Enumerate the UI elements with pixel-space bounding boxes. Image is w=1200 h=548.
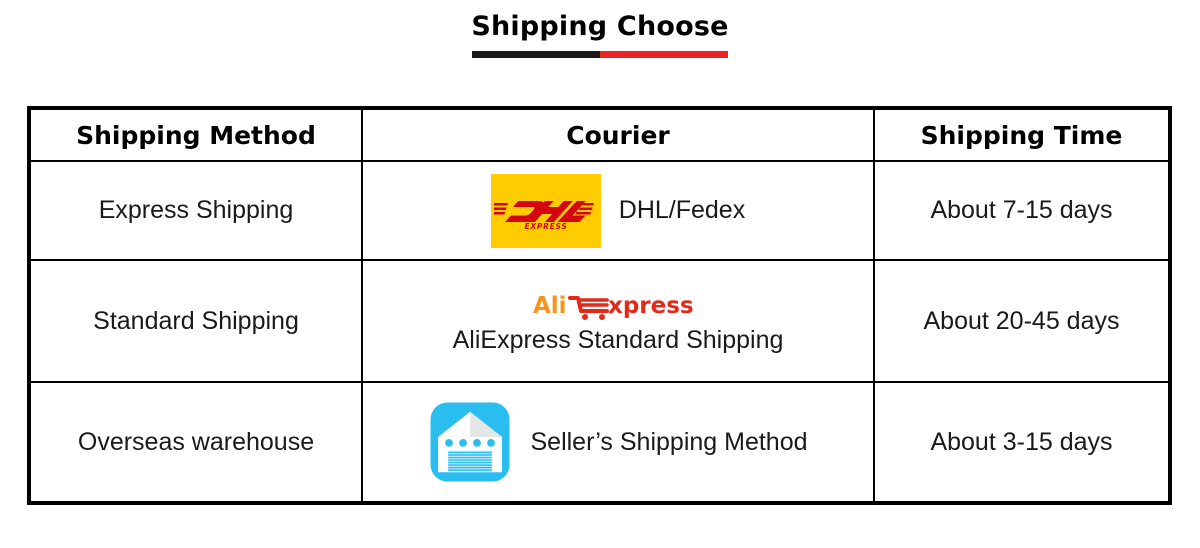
courier-content: Ali xpress AliExpress Standard Shipping bbox=[373, 288, 863, 355]
warehouse-icon bbox=[428, 400, 512, 484]
dhl-express-logo-mark: EXPRESS bbox=[494, 191, 598, 231]
cell-courier: EXPRESS DHL/Fedex bbox=[362, 161, 874, 260]
aliexpress-logo: Ali xpress bbox=[533, 288, 703, 324]
cell-shipping-time: About 20-45 days bbox=[874, 260, 1170, 382]
aliexpress-logo-text-xpress: xpress bbox=[608, 293, 694, 319]
courier-content: EXPRESS DHL/Fedex bbox=[373, 174, 863, 248]
dhl-express-subtext: EXPRESS bbox=[524, 222, 567, 231]
courier-content: Seller’s Shipping Method bbox=[373, 400, 863, 484]
title-underline-rule bbox=[472, 51, 728, 58]
courier-label: AliExpress Standard Shipping bbox=[453, 326, 784, 355]
column-header-shipping-method: Shipping Method bbox=[29, 108, 362, 161]
courier-label: DHL/Fedex bbox=[619, 196, 745, 225]
title-rule-accent-segment bbox=[600, 51, 728, 58]
table-row: Express Shipping bbox=[29, 161, 1170, 260]
aliexpress-logo-text-ali: Ali bbox=[533, 293, 567, 319]
dhl-express-logo: EXPRESS bbox=[491, 174, 601, 248]
cell-shipping-method: Overseas warehouse bbox=[29, 382, 362, 503]
cell-shipping-time: About 7-15 days bbox=[874, 161, 1170, 260]
cell-courier: Ali xpress AliExpress Standard Shipping bbox=[362, 260, 874, 382]
table-row: Standard Shipping Ali x bbox=[29, 260, 1170, 382]
column-header-shipping-time: Shipping Time bbox=[874, 108, 1170, 161]
table-header-row: Shipping Method Courier Shipping Time bbox=[29, 108, 1170, 161]
cell-shipping-time: About 3-15 days bbox=[874, 382, 1170, 503]
cell-shipping-method: Express Shipping bbox=[29, 161, 362, 260]
title-rule-dark-segment bbox=[472, 51, 600, 58]
warehouse-icon-door bbox=[449, 450, 493, 472]
cell-shipping-method: Standard Shipping bbox=[29, 260, 362, 382]
table-row: Overseas warehouse bbox=[29, 382, 1170, 503]
cell-courier: Seller’s Shipping Method bbox=[362, 382, 874, 503]
shipping-options-table: Shipping Method Courier Shipping Time Ex… bbox=[27, 106, 1172, 505]
page-title: Shipping Choose bbox=[0, 12, 1200, 42]
courier-label: Seller’s Shipping Method bbox=[530, 428, 807, 457]
shopping-cart-icon bbox=[570, 298, 607, 320]
page-title-block: Shipping Choose bbox=[0, 12, 1200, 58]
column-header-courier: Courier bbox=[362, 108, 874, 161]
